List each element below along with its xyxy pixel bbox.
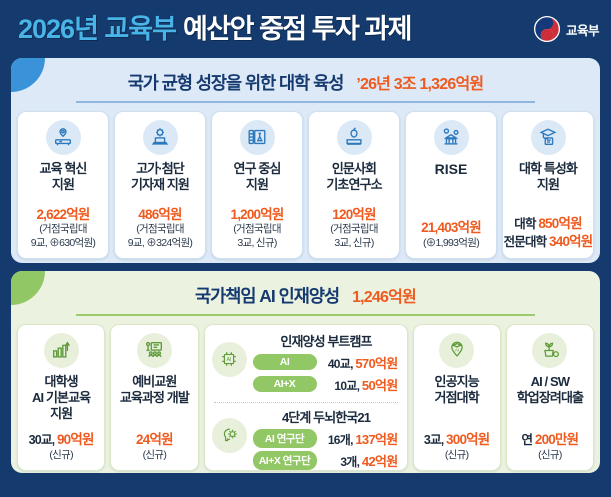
section2-amount: 1,246억원 [352,283,416,307]
card-amount: 1,200억원 [230,206,283,224]
card-title: 대학 특성화지원 [517,161,579,194]
bootcamp-value: 40교, 570억원 [324,353,400,372]
card-title: 고가·첨단기자재 지원 [129,161,191,194]
card-undergrad-ai-basics[interactable]: 대학생AI 기본교육지원 30교, 90억원 (신규) [17,324,105,471]
card-figures: 1,200억원 (거점국립대 3교, 신규) [230,206,283,251]
card-ai-sw-study-loan[interactable]: AI / SW학업장려대출 연 200만원 (신규) [506,324,594,471]
card-title: RISE [433,161,470,179]
card-research-focused[interactable]: 연구 중심지원 1,200억원 (거점국립대 3교, 신규) [211,111,303,259]
card-university-specialization[interactable]: 대학 특성화지원 대학 850억원 전문대학 340억원 [502,111,594,259]
card-figures: 대학 850억원 전문대학 340억원 [504,215,593,250]
card-advanced-equipment[interactable]: 고가·첨단기자재 지원 486억원 (거점국립대 9교, ⊕324억원) [114,111,206,259]
pill-badge: AI 연구단 [253,429,317,448]
card-divider [214,402,398,403]
pill-badge: AI [253,354,317,370]
card-title: 인공지능거점대학 [433,374,481,407]
section1-amount: ’26년 3조 1,326억원 [356,70,483,94]
bar-chart-growth-icon [44,333,79,368]
card-note-1: (신규) [522,449,579,463]
section2-card-row: 대학생AI 기본교육지원 30교, 90억원 (신규) [11,316,600,471]
card-title: 연구 중심지원 [232,161,283,194]
ai-chip-icon: AI [212,342,247,377]
lab-microscope-pin-icon [46,120,81,155]
taegeuk-icon [534,16,560,42]
section1-title: 국가 균형 성장을 위한 대학 육성 [128,70,344,95]
card-figures: 21,403억원 (⊕1,993억원) [421,219,481,250]
section2-title: 국가책임 AI 인재양성 [195,283,339,308]
bootcamp-block: AI 인재양성 부트캠프 AI 40교, 570억원 AI+X 10교, 50억… [212,331,400,397]
card-figures: 2,622억원 (거점국립대 9교, ⊕630억원) [31,206,95,251]
bk21-line: AI+X 연구단 3개, 42억원 [253,451,400,470]
card-figures: 24억원 (신규) [136,431,173,462]
card-title: AI / SW학업장려대출 [515,374,585,407]
teacher-board-icon [137,333,172,368]
bootcamp-line: AI+X 10교, 50억원 [253,375,400,394]
ministry-logo: 교육부 [534,16,599,42]
bk21-block: 4단계 두뇌한국21 AI 연구단 16개, 137억원 AI+X 연구단 3개… [212,407,400,473]
books-flask-icon [240,120,275,155]
laptop-gear-icon [143,120,178,155]
card-title: 인문사회기초연구소 [324,161,383,194]
card-preservice-teacher-curriculum[interactable]: 예비교원교육과정 개발 24억원 (신규) [110,324,198,471]
card-note-2: 3교, 신규) [330,237,378,251]
card-row-1: 연 200만원 [522,431,579,449]
card-note-1: (신규) [424,449,490,463]
bootcamp-heading: 인재양성 부트캠프 [253,331,400,350]
card-note-2: 3교, 신규) [230,237,283,251]
bk21-value: 3개, 42억원 [324,451,400,470]
svg-text:AI: AI [455,347,459,352]
page-title-blue: 2026년 교육부 [18,16,176,43]
section-ai-talent: 국가책임 AI 인재양성 1,246억원 대학생AI 기본교육지원 30교, 9… [11,271,600,473]
card-ai-hub-university[interactable]: AI 인공지능거점대학 3교, 300억원 (신규) [413,324,501,471]
card-note-1: (⊕1,993억원) [421,237,481,251]
bootcamp-body: 인재양성 부트캠프 AI 40교, 570억원 AI+X 10교, 50억원 [253,331,400,397]
page-title-white: 예산안 중점 투자 과제 [183,16,411,43]
card-humanities-institute[interactable]: 인문사회기초연구소 120억원 (거점국립대 3교, 신규) [308,111,400,259]
bk21-line: AI 연구단 16개, 137억원 [253,429,400,448]
ministry-logo-label: 교육부 [566,20,599,39]
card-row-1: 3교, 300억원 [424,431,490,449]
section2-title-row: 국가책임 AI 인재양성 1,246억원 [11,271,600,308]
card-education-innovation[interactable]: 교육 혁신지원 2,622억원 (거점국립대 9교, ⊕630억원) [17,111,109,259]
card-amount: 21,403억원 [421,219,481,237]
card-figures: 486억원 (거점국립대 9교, ⊕324억원) [128,206,192,251]
graduation-cap-doc-icon [531,120,566,155]
card-note-1: (신규) [29,449,94,463]
card-amount: 486억원 [128,206,192,224]
pill-badge: AI+X [253,376,317,392]
page-header: 2026년 교육부 예산안 중점 투자 과제 교육부 [0,0,611,58]
card-amount: 120억원 [330,206,378,224]
card-figures: 30교, 90억원 (신규) [29,431,94,462]
bk21-value: 16개, 137억원 [324,429,400,448]
card-title: 교육 혁신지원 [38,161,89,194]
card-figures: 연 200만원 (신규) [522,431,579,462]
section1-title-row: 국가 균형 성장을 위한 대학 육성 ’26년 3조 1,326억원 [11,58,600,95]
card-amount: 2,622억원 [31,206,95,224]
bank-pin-icon [434,120,469,155]
card-title: 예비교원교육과정 개발 [118,374,191,407]
card-figures: 120억원 (거점국립대 3교, 신규) [330,206,378,251]
bootcamp-value: 10교, 50억원 [324,375,400,394]
apple-book-icon [337,120,372,155]
section-balanced-growth: 국가 균형 성장을 위한 대학 육성 ’26년 3조 1,326억원 교육 혁신… [11,58,600,263]
card-note-1: (거점국립대 [330,223,378,237]
bk21-heading: 4단계 두뇌한국21 [253,407,400,426]
card-rise[interactable]: RISE 21,403억원 (⊕1,993억원) [405,111,497,259]
card-figures: 3교, 300억원 (신규) [424,431,490,462]
section1-card-row: 교육 혁신지원 2,622억원 (거점국립대 9교, ⊕630억원) 고가·첨단… [11,103,600,259]
ai-brain-icon: AI [439,333,474,368]
bootcamp-line: AI 40교, 570억원 [253,353,400,372]
card-note-2: 9교, ⊕324억원) [128,237,192,251]
bk21-body: 4단계 두뇌한국21 AI 연구단 16개, 137억원 AI+X 연구단 3개… [253,407,400,473]
card-row-1: 30교, 90억원 [29,431,94,449]
svg-text:AI: AI [227,357,232,363]
card-note-1: (신규) [136,449,173,463]
card-note-1: (거점국립대 [31,223,95,237]
sprout-pot-icon [532,333,567,368]
pill-badge: AI+X 연구단 [253,451,317,470]
card-amount: 24억원 [136,431,173,449]
card-note-2: 9교, ⊕630억원) [31,237,95,251]
card-title: 대학생AI 기본교육지원 [30,374,92,423]
card-note-1: (거점국립대 [230,223,283,237]
card-row-2: 전문대학 340억원 [504,233,593,251]
brain-gear-icon [212,418,247,453]
card-row-1: 대학 850억원 [504,215,593,233]
card-bootcamp-bk21[interactable]: AI 인재양성 부트캠프 AI 40교, 570억원 AI+X 10교, 50억… [204,324,408,471]
page-title: 2026년 교육부 예산안 중점 투자 과제 [18,16,534,43]
card-note-1: (거점국립대 [128,223,192,237]
